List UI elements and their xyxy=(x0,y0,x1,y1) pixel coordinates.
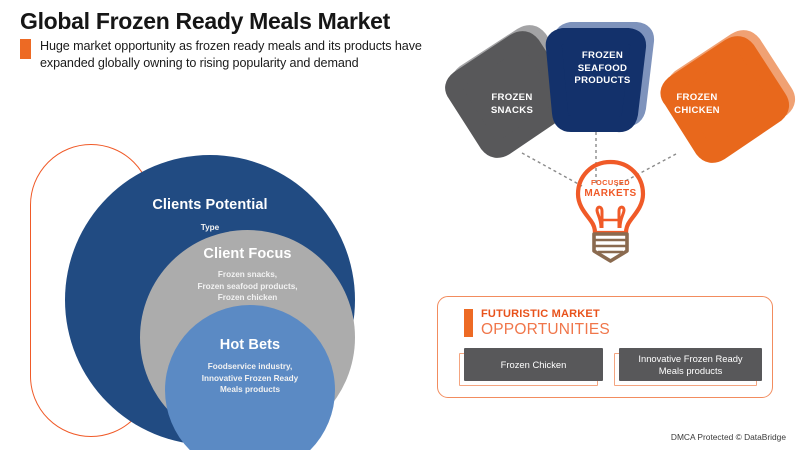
circle-inner-title: Hot Bets xyxy=(220,337,280,353)
panel-heading-bottom: OPPORTUNITIES xyxy=(481,321,610,338)
panel-accent-bar-icon xyxy=(464,309,473,337)
subtitle-block: Huge market opportunity as frozen ready … xyxy=(20,38,435,72)
petal-label-chicken: FROZENCHICKEN xyxy=(647,92,747,117)
lightbulb-label-line2: MARKETS xyxy=(553,188,668,199)
circle-mid-subtitle: Frozen snacks,Frozen seafood products,Fr… xyxy=(197,269,297,304)
panel-heading-top: FUTURISTIC MARKET xyxy=(481,308,610,320)
circle-outer-subtitle: Type xyxy=(201,222,220,234)
opportunity-chip-innovative-meals[interactable]: Innovative Frozen Ready Meals products xyxy=(619,348,762,381)
lightbulb-icon xyxy=(553,150,673,270)
panel-heading: FUTURISTIC MARKET OPPORTUNITIES xyxy=(464,308,610,338)
infographic-canvas: Global Frozen Ready Meals Market Huge ma… xyxy=(0,0,800,450)
circle-mid-title: Client Focus xyxy=(203,246,291,262)
opportunity-chip-1-wrapper: Frozen Chicken xyxy=(464,348,603,381)
focused-markets-lightbulb: FOCUSED MARKETS xyxy=(553,150,673,270)
circle-inner-subtitle: Foodservice industry,Innovative Frozen R… xyxy=(202,361,298,396)
accent-bar-icon xyxy=(20,39,31,59)
circle-outer-title: Clients Potential xyxy=(152,197,267,213)
opportunity-chip-frozen-chicken[interactable]: Frozen Chicken xyxy=(464,348,603,381)
petal-label-snacks: FROZENSNACKS xyxy=(467,92,557,117)
petal-label-seafood: FROZENSEAFOODPRODUCTS xyxy=(550,50,655,88)
lightbulb-label-line1: FOCUSED xyxy=(553,177,668,188)
subtitle-text: Huge market opportunity as frozen ready … xyxy=(40,38,435,72)
futuristic-opportunities-panel: FUTURISTIC MARKET OPPORTUNITIES Frozen C… xyxy=(437,296,773,398)
page-title: Global Frozen Ready Meals Market xyxy=(20,8,390,35)
lightbulb-label: FOCUSED MARKETS xyxy=(553,177,668,199)
opportunity-chip-2-wrapper: Innovative Frozen Ready Meals products xyxy=(619,348,762,381)
concentric-circles-diagram: Clients Potential Type Client Focus Froz… xyxy=(0,130,420,450)
copyright-footer: DMCA Protected © DataBridge xyxy=(671,432,786,442)
opportunity-chip-list: Frozen Chicken Innovative Frozen Ready M… xyxy=(464,348,762,381)
